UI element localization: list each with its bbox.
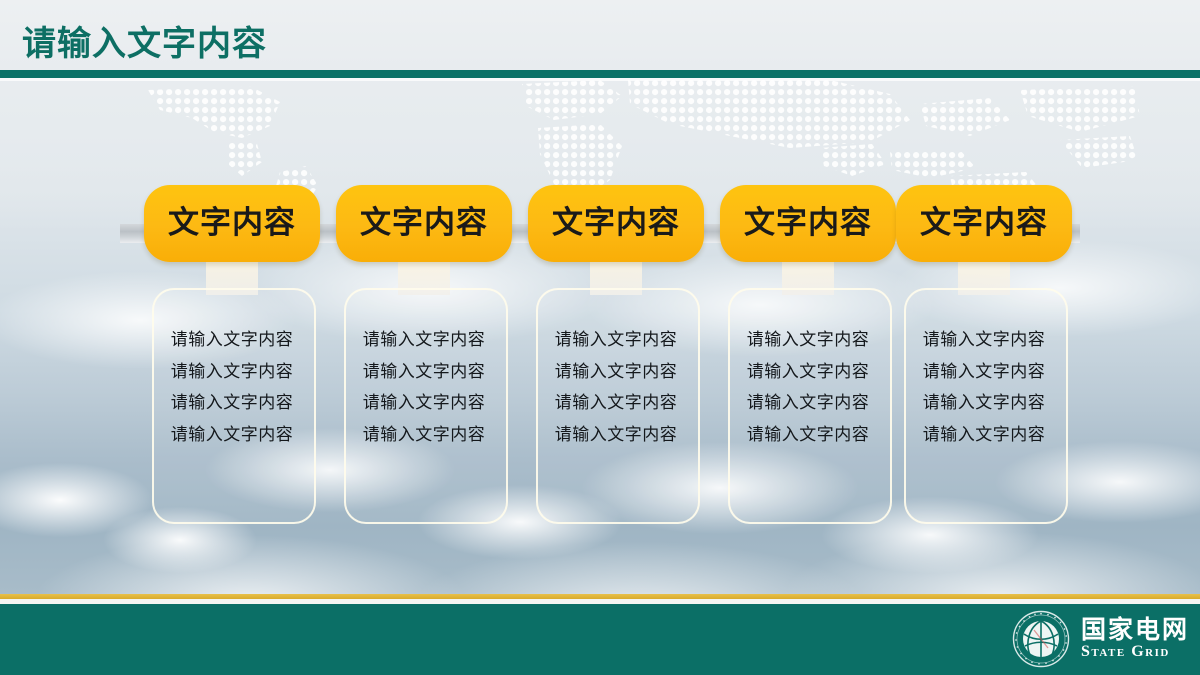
card-5[interactable]: 文字内容 请输入文字内容 请输入文字内容 请输入文字内容 请输入文字内容 [896, 185, 1072, 262]
card-2-line-3: 请输入文字内容 [363, 394, 486, 413]
card-3-line-1: 请输入文字内容 [555, 331, 678, 350]
brand-logo: 国家电网 State Grid [1012, 610, 1189, 668]
card-4-pill[interactable]: 文字内容 [720, 185, 896, 262]
card-1-line-4: 请输入文字内容 [171, 426, 294, 445]
state-grid-globe-logo-icon [1012, 610, 1070, 668]
card-1-line-1: 请输入文字内容 [171, 331, 294, 350]
card-5-pill[interactable]: 文字内容 [896, 185, 1072, 262]
card-4-lines: 请输入文字内容 请输入文字内容 请输入文字内容 请输入文字内容 [728, 331, 888, 445]
card-4-line-3: 请输入文字内容 [747, 394, 870, 413]
card-2-line-1: 请输入文字内容 [363, 331, 486, 350]
card-1-pill[interactable]: 文字内容 [144, 185, 320, 262]
card-4-pill-label: 文字内容 [744, 208, 872, 239]
card-5-line-2: 请输入文字内容 [923, 363, 1046, 382]
card-1-lines: 请输入文字内容 请输入文字内容 请输入文字内容 请输入文字内容 [152, 331, 312, 445]
card-2-pill[interactable]: 文字内容 [336, 185, 512, 262]
slide-canvas: 请输入文字内容 文字内容 请输入文字内容 请输入文字内容 请输入文字内容 请输入… [0, 0, 1200, 675]
card-3-line-2: 请输入文字内容 [555, 363, 678, 382]
card-5-lines: 请输入文字内容 请输入文字内容 请输入文字内容 请输入文字内容 [904, 331, 1064, 445]
card-2-lines: 请输入文字内容 请输入文字内容 请输入文字内容 请输入文字内容 [344, 331, 504, 445]
card-5-line-3: 请输入文字内容 [923, 394, 1046, 413]
card-2-line-4: 请输入文字内容 [363, 426, 486, 445]
card-1-line-3: 请输入文字内容 [171, 394, 294, 413]
brand-name-cn: 国家电网 [1081, 617, 1189, 643]
card-3-line-4: 请输入文字内容 [555, 426, 678, 445]
card-1-pill-label: 文字内容 [168, 208, 296, 239]
card-5-line-4: 请输入文字内容 [923, 426, 1046, 445]
brand-logo-text: 国家电网 State Grid [1081, 617, 1189, 661]
card-3[interactable]: 文字内容 请输入文字内容 请输入文字内容 请输入文字内容 请输入文字内容 [528, 185, 704, 262]
card-2-line-2: 请输入文字内容 [363, 363, 486, 382]
card-4-line-1: 请输入文字内容 [747, 331, 870, 350]
card-4-line-4: 请输入文字内容 [747, 426, 870, 445]
card-3-pill[interactable]: 文字内容 [528, 185, 704, 262]
card-1-line-2: 请输入文字内容 [171, 363, 294, 382]
card-5-pill-label: 文字内容 [920, 208, 1048, 239]
card-1[interactable]: 文字内容 请输入文字内容 请输入文字内容 请输入文字内容 请输入文字内容 [144, 185, 320, 262]
card-3-lines: 请输入文字内容 请输入文字内容 请输入文字内容 请输入文字内容 [536, 331, 696, 445]
card-2-pill-label: 文字内容 [360, 208, 488, 239]
card-3-pill-label: 文字内容 [552, 208, 680, 239]
card-2[interactable]: 文字内容 请输入文字内容 请输入文字内容 请输入文字内容 请输入文字内容 [336, 185, 512, 262]
card-3-line-3: 请输入文字内容 [555, 394, 678, 413]
cards-row: 文字内容 请输入文字内容 请输入文字内容 请输入文字内容 请输入文字内容 文字内… [0, 0, 1200, 675]
card-5-line-1: 请输入文字内容 [923, 331, 1046, 350]
brand-name-en: State Grid [1081, 643, 1189, 661]
card-4-line-2: 请输入文字内容 [747, 363, 870, 382]
card-4[interactable]: 文字内容 请输入文字内容 请输入文字内容 请输入文字内容 请输入文字内容 [720, 185, 896, 262]
